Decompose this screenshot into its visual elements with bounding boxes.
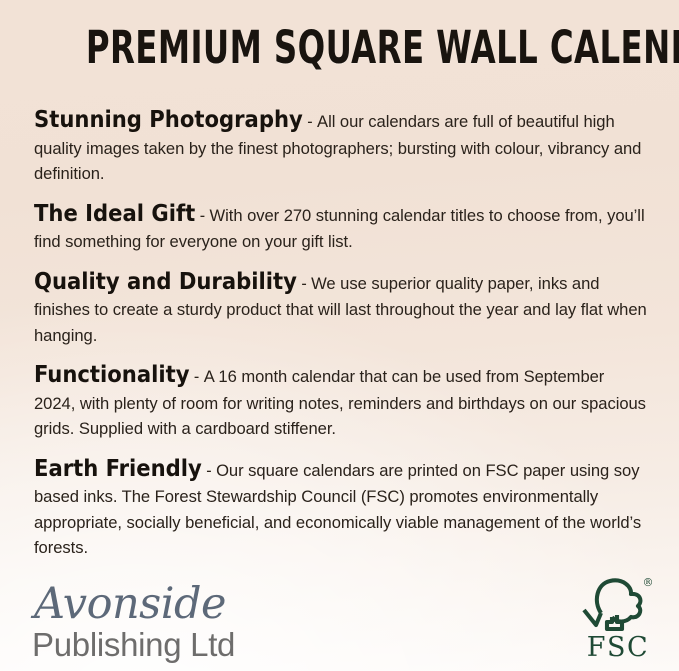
feature-item-functionality: Functionality - A 16 month calendar that…: [34, 362, 647, 442]
page-title-container: PREMIUM SQUARE WALL CALENDARS: [0, 24, 679, 72]
feature-dash: -: [195, 207, 209, 225]
feature-dash: -: [297, 275, 311, 293]
feature-dash: -: [202, 462, 216, 480]
feature-list: Stunning Photography - All our calendars…: [34, 107, 647, 561]
poster-footer: Avonside Publishing Ltd ® FSC: [0, 567, 679, 671]
brand-name: Avonside: [34, 582, 235, 627]
feature-heading: Quality and Durability: [34, 267, 297, 295]
fsc-certification-mark: ® FSC: [579, 575, 657, 661]
feature-dash: -: [303, 113, 317, 131]
page-title: PREMIUM SQUARE WALL CALENDARS: [86, 24, 679, 72]
feature-heading: Earth Friendly: [34, 454, 202, 482]
brand-subtitle: Publishing Ltd: [32, 625, 235, 665]
feature-item-stunning-photography: Stunning Photography - All our calendars…: [34, 107, 647, 187]
feature-heading: The Ideal Gift: [34, 199, 195, 227]
feature-item-the-ideal-gift: The Ideal Gift - With over 270 stunning …: [34, 201, 647, 255]
brand-logo: Avonside Publishing Ltd: [32, 582, 235, 665]
registered-trademark-symbol: ®: [643, 576, 654, 589]
feature-item-quality-and-durability: Quality and Durability - We use superior…: [34, 269, 647, 349]
feature-item-earth-friendly: Earth Friendly - Our square calendars ar…: [34, 456, 647, 561]
fsc-tree-checkmark-icon: ®: [579, 575, 657, 633]
feature-heading: Stunning Photography: [34, 105, 303, 133]
feature-heading: Functionality: [34, 360, 189, 388]
fsc-label: FSC: [579, 634, 657, 661]
product-description-poster: PREMIUM SQUARE WALL CALENDARS Stunning P…: [0, 0, 679, 671]
feature-dash: -: [189, 368, 203, 386]
